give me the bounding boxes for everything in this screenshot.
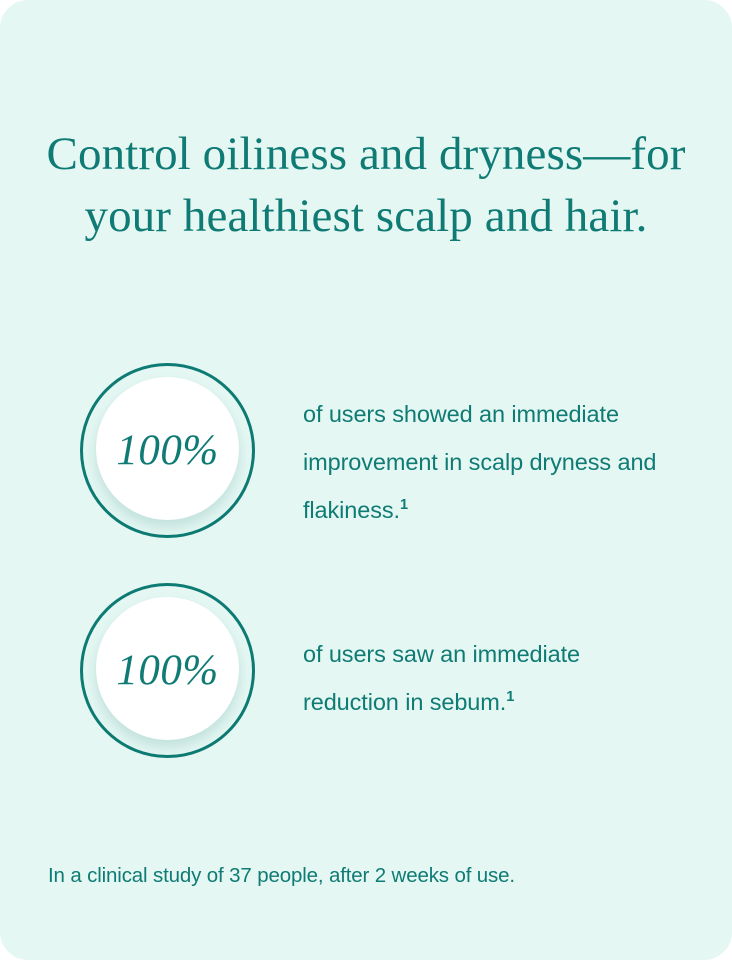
stat-value: 100%	[80, 583, 255, 758]
stat-value: 100%	[80, 363, 255, 538]
stat-description-text: of users showed an immediate improvement…	[303, 401, 656, 523]
footnote-marker: 1	[400, 497, 408, 513]
stat-row: 100% of users saw an immediate reduction…	[0, 583, 732, 758]
stat-description: of users showed an immediate improvement…	[303, 390, 663, 534]
stat-badge: 100%	[80, 363, 255, 538]
footnote-marker: 1	[506, 689, 514, 705]
stat-row: 100% of users showed an immediate improv…	[0, 363, 732, 538]
stat-description-text: of users saw an immediate reduction in s…	[303, 641, 580, 715]
study-footnote: In a clinical study of 37 people, after …	[48, 862, 708, 890]
stat-description: of users saw an immediate reduction in s…	[303, 630, 663, 726]
stats-card: Control oiliness and dryness—for your he…	[0, 0, 732, 960]
page-title: Control oiliness and dryness—for your he…	[40, 123, 692, 247]
stat-badge: 100%	[80, 583, 255, 758]
